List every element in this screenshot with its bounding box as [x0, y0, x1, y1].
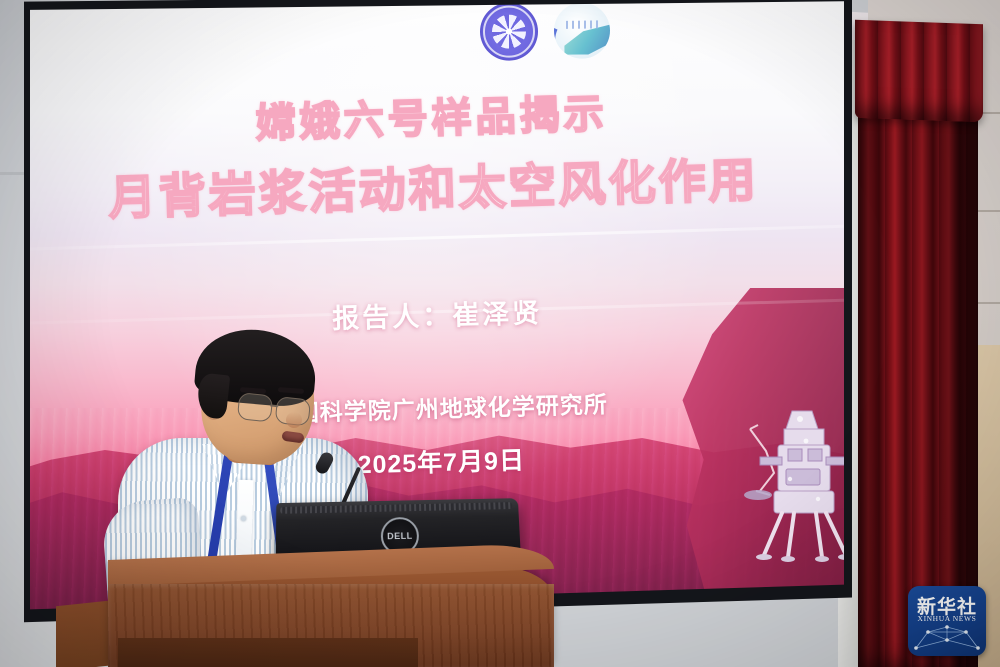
shirt-button: [241, 516, 246, 521]
slide-title-line-2: 月背岩浆活动和太空风化作用: [30, 139, 841, 231]
network-graphic-icon: [908, 622, 986, 654]
glasses-lens-left: [237, 392, 274, 422]
laptop-hinge: [280, 502, 512, 514]
presentation-photo-scene: 嫦娥六号样品揭示 月背岩浆活动和太空风化作用 报告人：崔泽贤 中国科学院广州地球…: [0, 0, 1000, 667]
curtain-shading: [858, 30, 978, 667]
xinhua-news-watermark: 新华社 XINHUA NEWS: [908, 586, 986, 656]
podium-base: [118, 638, 418, 667]
curtain-pelmet: [855, 20, 983, 122]
